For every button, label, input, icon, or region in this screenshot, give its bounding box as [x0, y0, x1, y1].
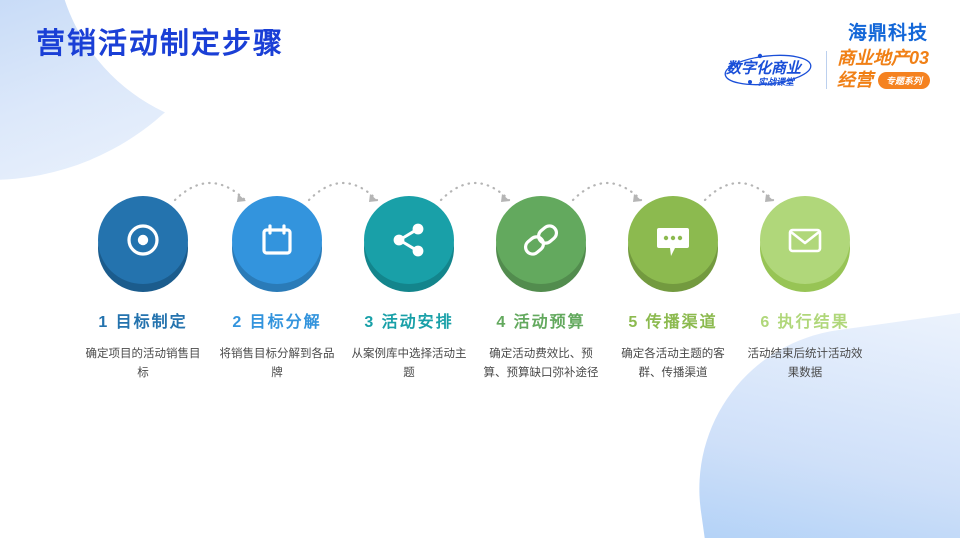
step-title-2: 2 目标分解: [202, 308, 352, 332]
step-1[interactable]: 1 目标制定 确定项目的活动销售目标: [68, 196, 218, 383]
step-title-1: 1 目标制定: [68, 308, 218, 332]
envelope-icon: [783, 218, 827, 262]
step-3[interactable]: 3 活动安排 从案例库中选择活动主题: [334, 196, 484, 383]
step-desc-2: 将销售目标分解到各品牌: [202, 345, 352, 383]
calendar-icon: [255, 218, 299, 262]
slide-root: 营销活动制定步骤 海鼎科技 数字化商业 实战课堂 商业地产03 经营 专题系列: [0, 0, 960, 538]
step-desc-4: 确定活动费效比、预算、预算缺口弥补途径: [466, 345, 616, 383]
steps-container: 1 目标制定 确定项目的活动销售目标 2 目标分解 将销售目标分解到各品牌 3 …: [0, 0, 960, 538]
step-4[interactable]: 4 活动预算 确定活动费效比、预算、预算缺口弥补途径: [466, 196, 616, 383]
step-icon-circle-2[interactable]: [232, 196, 322, 292]
step-icon-circle-1[interactable]: [98, 196, 188, 292]
step-desc-6: 活动结束后统计活动效果数据: [730, 345, 880, 383]
step-desc-1: 确定项目的活动销售目标: [68, 345, 218, 383]
circle-face: [628, 196, 718, 284]
step-desc-5: 确定各活动主题的客群、传播渠道: [598, 345, 748, 383]
share-icon: [387, 218, 431, 262]
step-icon-circle-3[interactable]: [364, 196, 454, 292]
circle-face: [760, 196, 850, 284]
circle-face: [496, 196, 586, 284]
step-title-5: 5 传播渠道: [598, 308, 748, 332]
target-icon: [121, 218, 165, 262]
step-title-4: 4 活动预算: [466, 308, 616, 332]
circle-face: [364, 196, 454, 284]
step-desc-3: 从案例库中选择活动主题: [334, 345, 484, 383]
step-title-3: 3 活动安排: [334, 308, 484, 332]
step-5[interactable]: 5 传播渠道 确定各活动主题的客群、传播渠道: [598, 196, 748, 383]
link-icon: [518, 217, 564, 263]
step-icon-circle-4[interactable]: [496, 196, 586, 292]
circle-face: [98, 196, 188, 284]
step-title-6: 6 执行结果: [730, 308, 880, 332]
step-6[interactable]: 6 执行结果 活动结束后统计活动效果数据: [730, 196, 880, 383]
circle-face: [232, 196, 322, 284]
step-icon-circle-6[interactable]: [760, 196, 850, 292]
step-icon-circle-5[interactable]: [628, 196, 718, 292]
step-2[interactable]: 2 目标分解 将销售目标分解到各品牌: [202, 196, 352, 383]
chat-icon: [651, 218, 695, 262]
